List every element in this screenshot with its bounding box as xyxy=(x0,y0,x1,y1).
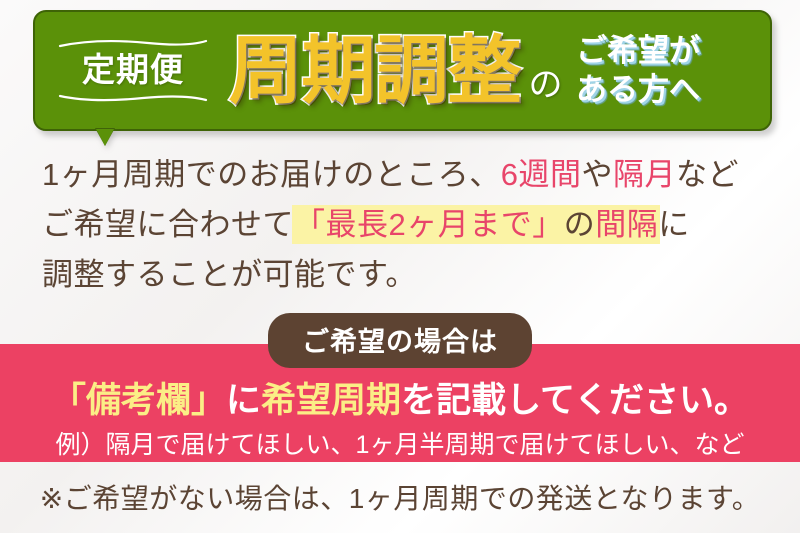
body-line-1: 1ヶ月周期でのお届けのところ、6週間や隔月など xyxy=(42,150,762,200)
instruction-seg4: を記載してください。 xyxy=(401,381,749,420)
header-content: 定期便 周期調整 の ご希望が ある方へ xyxy=(35,12,770,129)
body-line2-seg3: の xyxy=(564,207,596,242)
wish-line-1: ご希望が xyxy=(576,32,754,71)
body-line2-highlight-max-two-months: 「最長2ヶ月まで」 xyxy=(294,207,564,242)
body-line2-seg5: に xyxy=(658,207,690,242)
wish-line-2: ある方へ xyxy=(576,71,754,110)
instruction-highlight-desired-cycle: 希望周期 xyxy=(261,381,401,420)
body-line1-seg3: や xyxy=(582,157,614,192)
body-line1-seg1: 1ヶ月周期でのお届けのところ、 xyxy=(42,157,501,192)
instruction-highlight-remarks-field: 「備考欄」 xyxy=(51,381,226,420)
wave-rule-bottom-icon xyxy=(58,93,208,102)
wave-rule-top-icon xyxy=(58,39,208,48)
wish-target-text: ご希望が ある方へ xyxy=(576,32,754,110)
bubble-tail-icon xyxy=(96,129,114,146)
header-bubble: 定期便 周期調整 の ご希望が ある方へ xyxy=(33,10,772,131)
main-title-text: 周期調整 xyxy=(229,34,521,108)
instruction-main-text: 「備考欄」に希望周期を記載してください。 xyxy=(0,372,800,423)
teikibin-label: 定期便 xyxy=(57,53,209,88)
body-line2-seg1: ご希望に合わせて xyxy=(42,207,294,242)
main-title: 周期調整 の xyxy=(215,34,576,108)
instruction-seg2: に xyxy=(226,381,261,420)
request-case-badge: ご希望の場合は xyxy=(268,313,532,368)
body-line1-highlight-every-other-month: 隔月 xyxy=(613,157,676,192)
footer-note: ※ご希望がない場合は、1ヶ月周期での発送となります。 xyxy=(0,477,800,517)
body-line2-highlight-interval: 間隔 xyxy=(595,207,658,242)
body-line1-seg5: など xyxy=(676,157,739,192)
body-line-3: 調整することが可能です。 xyxy=(42,250,762,300)
body-line-2: ご希望に合わせて「最長2ヶ月まで」の間隔に xyxy=(42,200,762,250)
main-title-particle: の xyxy=(529,57,563,106)
teikibin-label-group: 定期便 xyxy=(57,39,209,102)
body-copy: 1ヶ月周期でのお届けのところ、6週間や隔月など ご希望に合わせて「最長2ヶ月まで… xyxy=(42,150,762,300)
subscription-cycle-banner: 定期便 周期調整 の ご希望が ある方へ 1ヶ月周期でのお届けのところ、6週間や… xyxy=(0,0,800,533)
badge-container: ご希望の場合は xyxy=(0,313,800,368)
instruction-example-text: 例）隔月で届けてほしい、1ヶ月半周期で届けてほしい、など xyxy=(0,425,800,461)
body-line1-highlight-6weeks: 6週間 xyxy=(501,157,582,192)
